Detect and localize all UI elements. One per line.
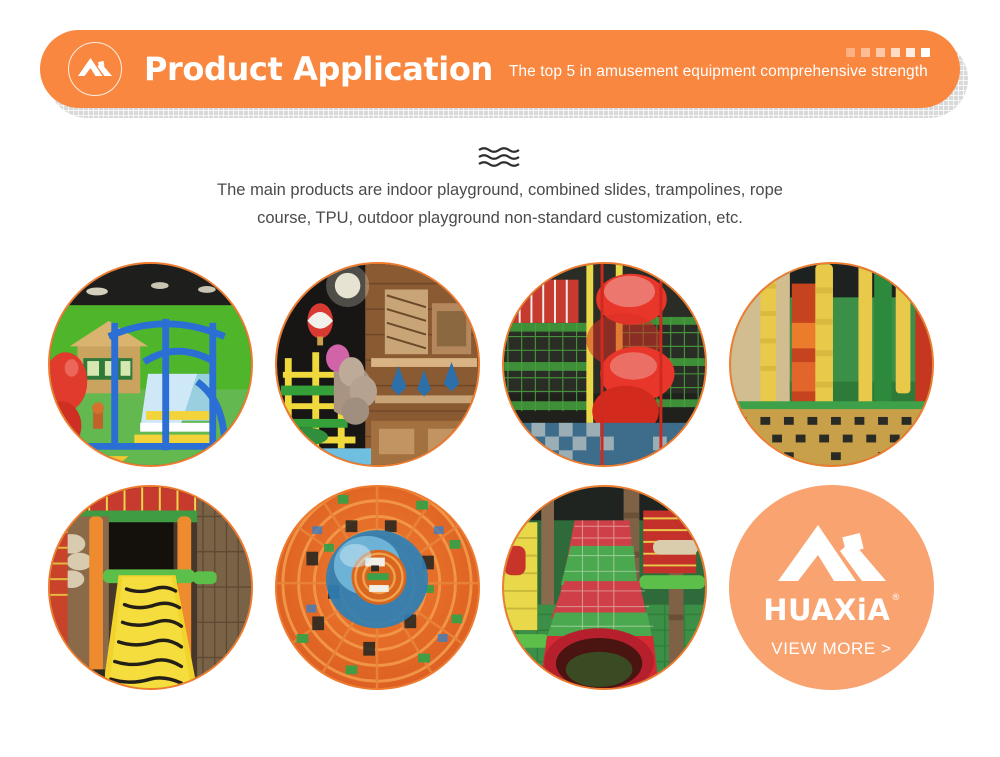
product-gallery: HUAXiA® VIEW MORE > — [48, 262, 960, 708]
photo-orange-rope-tunnel[interactable] — [275, 485, 480, 690]
intro-description: The main products are indoor playground,… — [190, 176, 810, 232]
gallery-row-2: HUAXiA® VIEW MORE > — [48, 485, 960, 690]
brand-text: HUAXiA — [763, 593, 890, 627]
huaxia-mountain-logo-icon — [68, 42, 122, 96]
banner-pill: Product Application The top 5 in amuseme… — [40, 30, 960, 108]
photo-wooden-themed-playground[interactable] — [275, 262, 480, 467]
view-more-label[interactable]: VIEW MORE > — [771, 639, 891, 659]
page-header-banner: Product Application The top 5 in amuseme… — [40, 30, 960, 108]
banner-dot-2 — [861, 48, 870, 57]
wavy-lines-divider-icon — [0, 146, 1000, 168]
intro-line-1: The main products are indoor playground,… — [190, 176, 810, 204]
intro-line-2: course, TPU, outdoor playground non-stan… — [190, 204, 810, 232]
trademark-symbol: ® — [891, 593, 901, 603]
photo-red-spiral-tube-slide[interactable] — [502, 262, 707, 467]
photo-green-red-crawl-tunnel[interactable] — [502, 485, 707, 690]
photo-yellow-tiger-slide[interactable] — [48, 485, 253, 690]
banner-dot-4 — [891, 48, 900, 57]
photo-soft-padded-columns[interactable] — [729, 262, 934, 467]
banner-subtitle: The top 5 in amusement equipment compreh… — [509, 63, 928, 81]
huaxia-mountain-logo-icon — [778, 523, 886, 594]
banner-title: Product Application — [144, 50, 493, 88]
banner-dot-1 — [846, 48, 855, 57]
banner-dot-6 — [921, 48, 930, 57]
banner-dot-5 — [906, 48, 915, 57]
banner-dot-3 — [876, 48, 885, 57]
gallery-row-1 — [48, 262, 960, 467]
banner-dot-indicators — [846, 48, 930, 57]
view-more-button[interactable]: HUAXiA® VIEW MORE > — [729, 485, 934, 690]
brand-name: HUAXiA® — [763, 596, 900, 625]
photo-indoor-playground-blue-slide[interactable] — [48, 262, 253, 467]
